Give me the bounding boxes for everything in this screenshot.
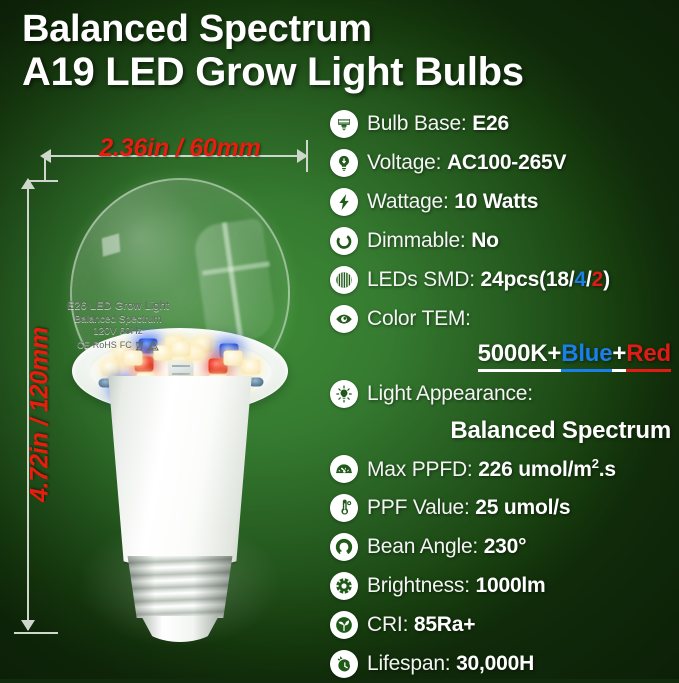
color-tem-red: Red: [626, 340, 671, 372]
spec-label-wattage: Wattage: 10 Watts: [367, 190, 538, 214]
spec-row-bean-angle: Bean Angle: 230°: [330, 527, 679, 566]
spec-row-ppf-value: PPF Value: 25 umol/s: [330, 488, 679, 527]
height-extension-bottom: [14, 632, 58, 634]
led-bulb-illustration: [62, 178, 298, 638]
spec-label-color-tem: Color TEM:: [367, 307, 471, 331]
spec-label-ppf-value: PPF Value: 25 umol/s: [367, 496, 570, 520]
thermometer-icon: [330, 494, 358, 522]
spec-row-lifespan: Lifespan: 30,000H: [330, 644, 679, 683]
height-arrow-bottom-icon: [21, 620, 35, 631]
spec-row-light-appearance: Light Appearance:: [330, 374, 679, 413]
spec-label-cri: CRI: 85Ra+: [367, 613, 475, 637]
spec-label-max-ppfd: Max PPFD: 226 umol/m2.s: [367, 456, 616, 482]
spec-value-brightness: 1000lm: [476, 574, 546, 597]
color-tem-kelvin: 5000K: [478, 340, 548, 372]
spec-label-bulb-base: Bulb Base: E26: [367, 112, 509, 136]
leds-red-count: 2: [592, 268, 603, 291]
label-voltage: 120V 60Hz: [42, 326, 194, 339]
bulb-printed-label: E26 LED Grow Light Balanced Spectrum 120…: [42, 300, 194, 351]
spec-label-bean-angle: Bean Angle: 230°: [367, 535, 526, 559]
label-product-name: E26 LED Grow Light: [42, 300, 194, 314]
spec-row-leds-smd: LEDs SMD: 24pcs(18/4/2): [330, 260, 679, 299]
spec-label-voltage: Voltage: AC100-265V: [367, 151, 566, 175]
led-white: [241, 360, 260, 375]
lightning-bolt-icon: [330, 188, 358, 216]
spec-value-leds-smd: 24pcs(18/4/2): [481, 268, 610, 291]
sun-icon: [330, 572, 358, 600]
width-dimension-label: 2.36in / 60mm: [60, 134, 300, 163]
spec-row-dimmable: Dimmable: No: [330, 221, 679, 260]
spec-value-cri: 85Ra+: [414, 613, 475, 636]
lifespan-icon: [330, 650, 358, 678]
spec-row-color-tem: Color TEM:: [330, 299, 679, 338]
spec-value-dimmable: No: [471, 229, 499, 252]
spec-value-ppf-value: 25 umol/s: [475, 496, 570, 519]
beam-angle-icon: [330, 533, 358, 561]
light-appearance-value: Balanced Spectrum: [330, 413, 679, 449]
eye-icon: [330, 305, 358, 333]
certification-row: CE RoHS FC: [42, 340, 194, 351]
width-extension-left: [44, 156, 46, 182]
spec-row-brightness: Brightness: 1000lm: [330, 566, 679, 605]
led-white: [102, 361, 121, 376]
gauge-icon: [330, 455, 358, 483]
rohs-mark: RoHS: [93, 340, 117, 351]
spec-value-lifespan: 30,000H: [456, 652, 534, 675]
led-white: [124, 350, 143, 365]
spec-value-max-ppfd: 226 umol/m2.s: [478, 458, 616, 481]
title-line-1: Balanced Spectrum: [22, 8, 662, 51]
specification-list: Bulb Base: E26 Voltage: AC100-265V Wa: [330, 104, 679, 683]
e26-screw-base: [123, 556, 237, 618]
recycle-triangle-icon: [147, 340, 159, 351]
fc-mark: FC: [120, 340, 132, 351]
height-dimension-label: 4.72in / 120mm: [26, 315, 55, 515]
spec-label-dimmable: Dimmable: No: [367, 229, 499, 253]
weee-bin-icon: [135, 340, 144, 351]
spec-label-leds-smd: LEDs SMD: 24pcs(18/4/2): [367, 268, 610, 292]
spec-value-bean-angle: 230°: [484, 535, 527, 558]
width-extension-right: [306, 140, 308, 172]
spec-value-wattage: 10 Watts: [454, 190, 538, 213]
spec-label-brightness: Brightness: 1000lm: [367, 574, 546, 598]
title-line-2: A19 LED Grow Light Bulbs: [22, 51, 662, 94]
bulb-body: [102, 376, 258, 564]
leds-blue-count: 4: [574, 268, 585, 291]
spec-label-light-appearance: Light Appearance:: [367, 382, 533, 406]
spec-row-wattage: Wattage: 10 Watts: [330, 182, 679, 221]
spec-label-lifespan: Lifespan: 30,000H: [367, 652, 534, 676]
spec-value-bulb-base: E26: [472, 112, 509, 135]
label-spectrum: Balanced Spectrum: [42, 314, 194, 327]
spec-row-voltage: Voltage: AC100-265V: [330, 143, 679, 182]
spec-row-max-ppfd: Max PPFD: 226 umol/m2.s: [330, 449, 679, 488]
spec-row-bulb-base: Bulb Base: E26: [330, 104, 679, 143]
page-title: Balanced Spectrum A19 LED Grow Light Bul…: [22, 8, 662, 94]
ce-mark: CE: [77, 340, 90, 351]
color-tem-blue: Blue: [561, 340, 612, 372]
leaf-icon: [330, 611, 358, 639]
height-extension-top: [28, 180, 58, 182]
voltage-bulb-icon: [330, 149, 358, 177]
led-strip-icon: [330, 266, 358, 294]
color-tem-value: 5000K+Blue+Red: [330, 338, 679, 374]
spec-value-voltage: AC100-265V: [447, 151, 566, 174]
led-white: [223, 351, 242, 366]
spec-row-cri: CRI: 85Ra+: [330, 605, 679, 644]
bulb-base-icon: [330, 110, 358, 138]
dimmable-ring-icon: [330, 227, 358, 255]
light-rays-icon: [330, 380, 358, 408]
